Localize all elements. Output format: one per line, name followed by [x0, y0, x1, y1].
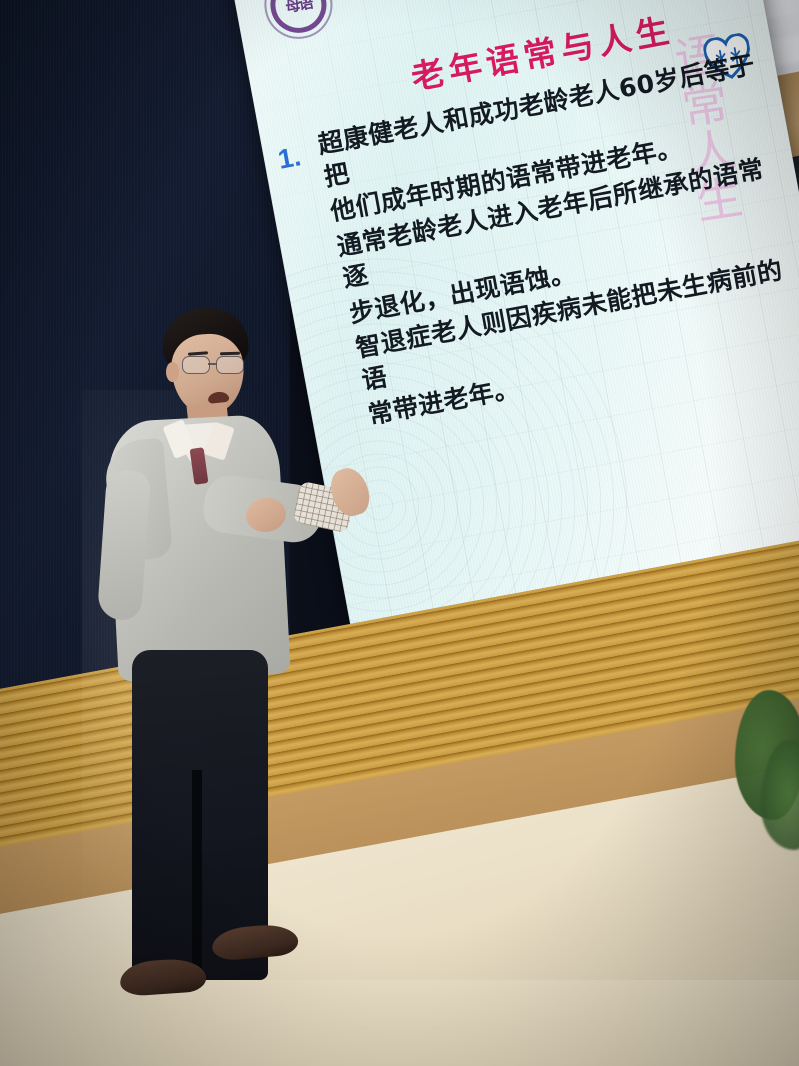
- slide-body: 超康健老人和成功老龄老人60岁后等于把 他们成年时期的语常带进老年。 通常老龄老…: [316, 49, 799, 436]
- university-seal-icon: 母语: [259, 0, 338, 44]
- slide-bullet-number: 1.: [276, 141, 304, 176]
- glasses-lens: [216, 356, 244, 374]
- presenter-ear: [166, 362, 179, 382]
- trouser-leg-gap: [192, 770, 202, 980]
- seal-inner-text: 母语: [266, 0, 331, 37]
- glasses-lens: [182, 356, 210, 374]
- photo-scene: 母语 语常人生 老年语常与人生 1. 超康健老人和成功老龄老人60岁后等于把 他…: [0, 0, 799, 1066]
- presenter: [96, 300, 336, 1066]
- glasses-icon: [182, 356, 244, 373]
